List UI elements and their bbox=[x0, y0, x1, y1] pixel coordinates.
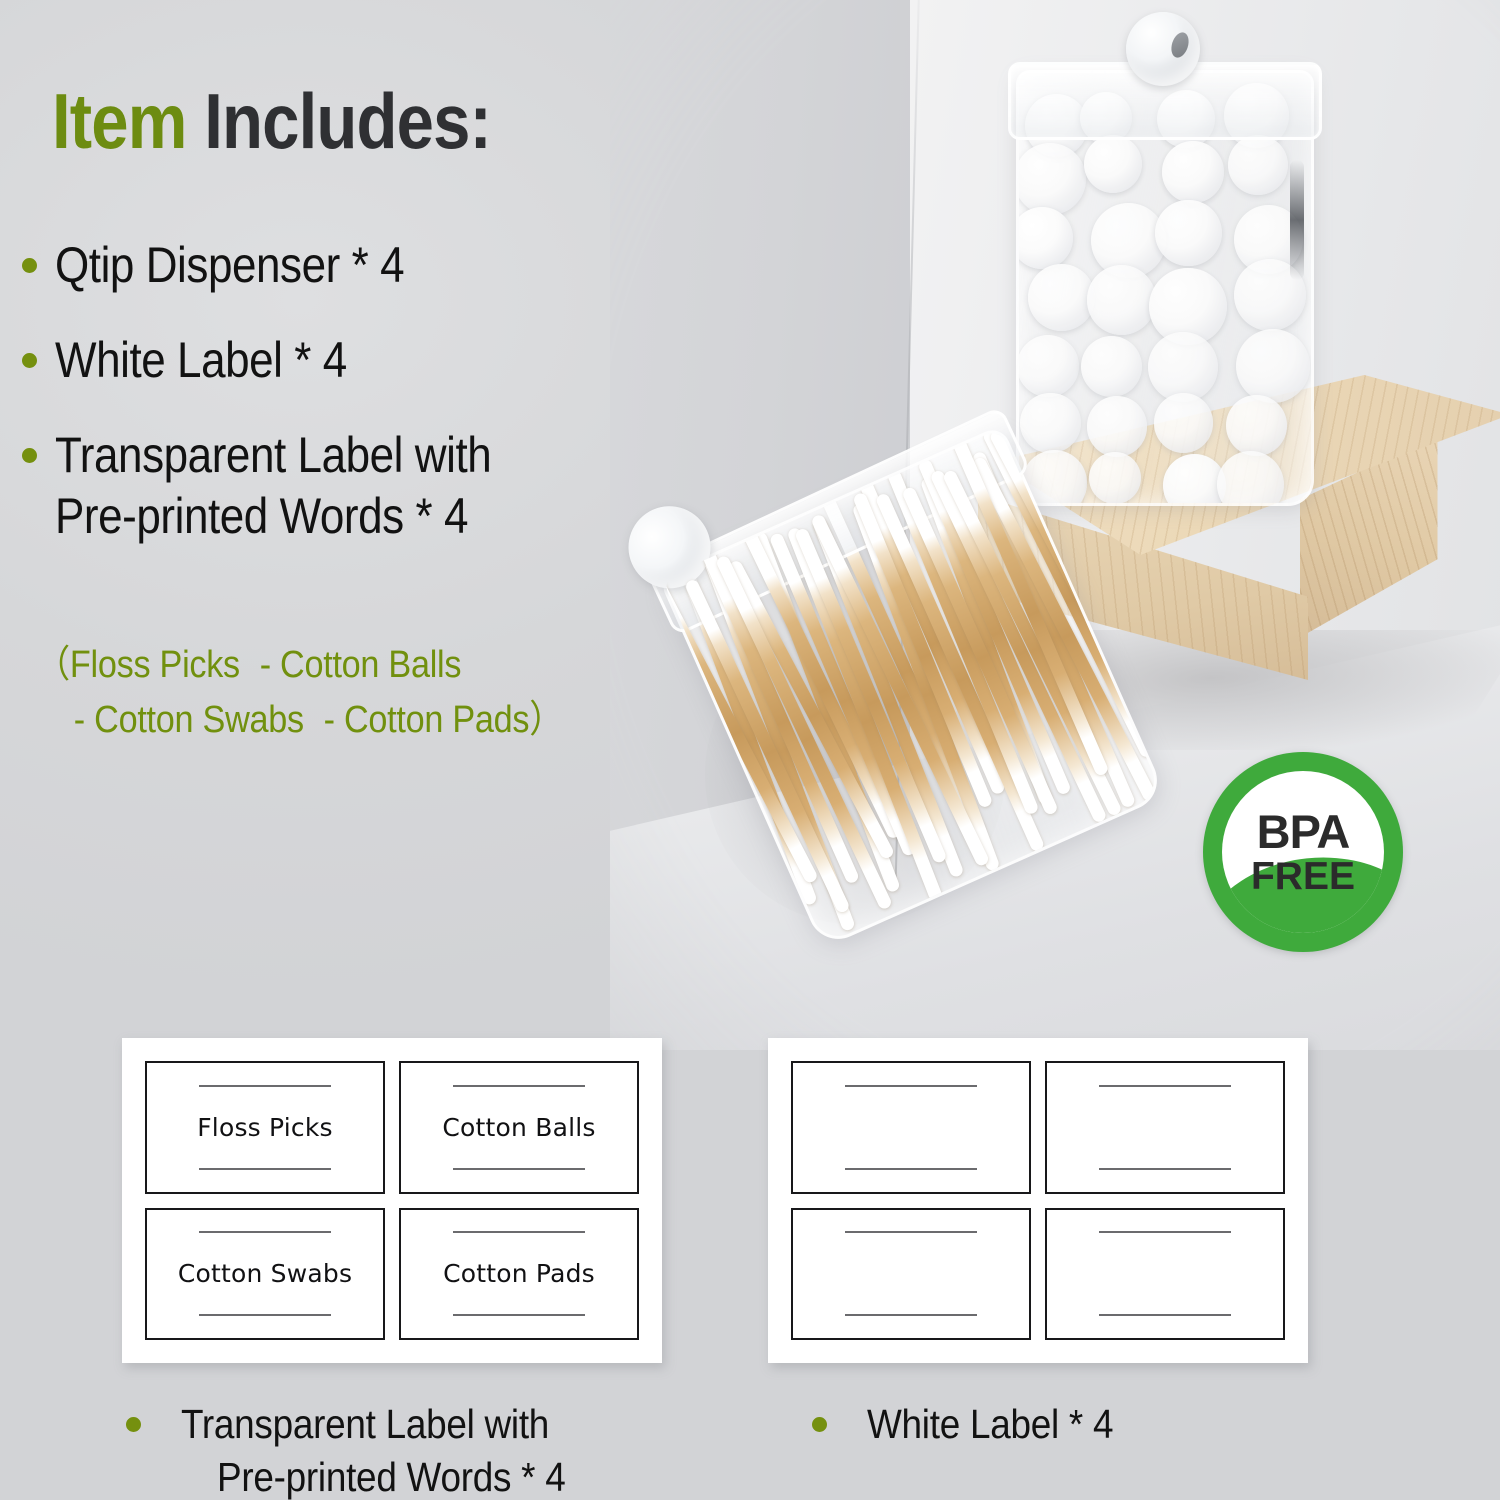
cotton-ball-jar-knob bbox=[1126, 12, 1200, 86]
label-card bbox=[791, 1208, 1031, 1341]
label-rule-bottom bbox=[453, 1168, 585, 1170]
label-card bbox=[1045, 1208, 1285, 1341]
bullet-dot-icon bbox=[22, 448, 37, 463]
label-rule-bottom bbox=[199, 1314, 331, 1316]
label-card: Cotton Swabs bbox=[145, 1208, 385, 1341]
note-item-1: Floss Picks bbox=[70, 644, 240, 686]
label-rule-bottom bbox=[845, 1314, 977, 1316]
label-rule-top bbox=[453, 1231, 585, 1233]
note-item-2: - Cotton Balls bbox=[260, 644, 462, 686]
label-card: Cotton Balls bbox=[399, 1061, 639, 1194]
label-rule-top bbox=[845, 1085, 977, 1087]
bpa-badge-line1: BPA bbox=[1257, 808, 1350, 855]
bpa-free-badge-icon: BPA FREE bbox=[1203, 752, 1403, 952]
title-green-word: Item bbox=[52, 77, 186, 165]
transparent-label-sheet: Floss Picks Cotton Balls Cotton Swabs Co… bbox=[122, 1038, 662, 1363]
page-title: Item Includes: bbox=[52, 82, 491, 160]
label-rule-top bbox=[1099, 1085, 1231, 1087]
label-cell bbox=[784, 1054, 1038, 1201]
caption-transparent-text: Transparent Label with Pre-printed Words… bbox=[181, 1398, 565, 1500]
label-rule-bottom bbox=[453, 1314, 585, 1316]
label-cell: Cotton Swabs bbox=[138, 1201, 392, 1348]
label-rule-top bbox=[199, 1085, 331, 1087]
caption-transparent-line2: Pre-printed Words * 4 bbox=[181, 1451, 565, 1500]
label-cell bbox=[1038, 1054, 1292, 1201]
label-rule-bottom bbox=[1099, 1314, 1231, 1316]
preprinted-words-note: （Floss Picks- Cotton Balls - Cotton Swab… bbox=[36, 638, 563, 748]
caption-transparent-label: Transparent Label with Pre-printed Words… bbox=[126, 1398, 608, 1500]
list-item: White Label * 4 bbox=[22, 330, 712, 391]
bpa-badge-inner: BPA FREE bbox=[1222, 771, 1384, 933]
bullet-dot-icon bbox=[812, 1417, 827, 1432]
caption-transparent-line1: Transparent Label with bbox=[181, 1401, 549, 1447]
label-rule-top bbox=[845, 1231, 977, 1233]
note-open-paren: （ bbox=[36, 644, 70, 686]
label-text: Cotton Pads bbox=[443, 1259, 595, 1288]
label-text: Floss Picks bbox=[197, 1113, 333, 1142]
label-rule-top bbox=[199, 1231, 331, 1233]
label-cell bbox=[784, 1201, 1038, 1348]
cotton-ball-jar bbox=[1008, 10, 1318, 510]
title-dark-word: Includes: bbox=[204, 77, 491, 165]
bpa-badge-line2: FREE bbox=[1251, 857, 1355, 896]
feature-label-1: Qtip Dispenser * 4 bbox=[55, 235, 633, 296]
feature-label-3: Transparent Label with Pre-printed Words… bbox=[55, 425, 633, 547]
label-card: Floss Picks bbox=[145, 1061, 385, 1194]
label-cell bbox=[1038, 1201, 1292, 1348]
note-item-4: - Cotton Pads bbox=[324, 699, 530, 741]
label-rule-top bbox=[453, 1085, 585, 1087]
label-card: Cotton Pads bbox=[399, 1208, 639, 1341]
feature-label-3-line2: Pre-printed Words * 4 bbox=[55, 486, 633, 547]
caption-white-text: White Label * 4 bbox=[867, 1398, 1113, 1451]
list-item: Qtip Dispenser * 4 bbox=[22, 235, 712, 296]
label-rule-bottom bbox=[199, 1168, 331, 1170]
feature-label-2: White Label * 4 bbox=[55, 330, 633, 391]
bullet-dot-icon bbox=[126, 1417, 141, 1432]
cotton-balls-fill bbox=[1025, 83, 1305, 495]
label-text: Cotton Swabs bbox=[178, 1259, 352, 1288]
jar-highlight bbox=[1290, 160, 1304, 280]
label-cell: Cotton Pads bbox=[392, 1201, 646, 1348]
label-text: Cotton Balls bbox=[442, 1113, 595, 1142]
label-rule-bottom bbox=[845, 1168, 977, 1170]
feature-label-3-line1: Transparent Label with bbox=[55, 425, 633, 486]
label-rule-top bbox=[1099, 1231, 1231, 1233]
bullet-dot-icon bbox=[22, 353, 37, 368]
feature-list: Qtip Dispenser * 4 White Label * 4 Trans… bbox=[22, 235, 712, 581]
label-card bbox=[1045, 1061, 1285, 1194]
label-card bbox=[791, 1061, 1031, 1194]
caption-white-label: White Label * 4 bbox=[812, 1398, 1141, 1451]
label-cell: Cotton Balls bbox=[392, 1054, 646, 1201]
white-label-sheet bbox=[768, 1038, 1308, 1363]
label-rule-bottom bbox=[1099, 1168, 1231, 1170]
infographic-page: Item Includes: Qtip Dispenser * 4 White … bbox=[0, 0, 1500, 1500]
bullet-dot-icon bbox=[22, 258, 37, 273]
note-close-paren: ） bbox=[529, 699, 563, 741]
note-item-3: - Cotton Swabs bbox=[74, 699, 304, 741]
list-item: Transparent Label with Pre-printed Words… bbox=[22, 425, 712, 547]
label-cell: Floss Picks bbox=[138, 1054, 392, 1201]
